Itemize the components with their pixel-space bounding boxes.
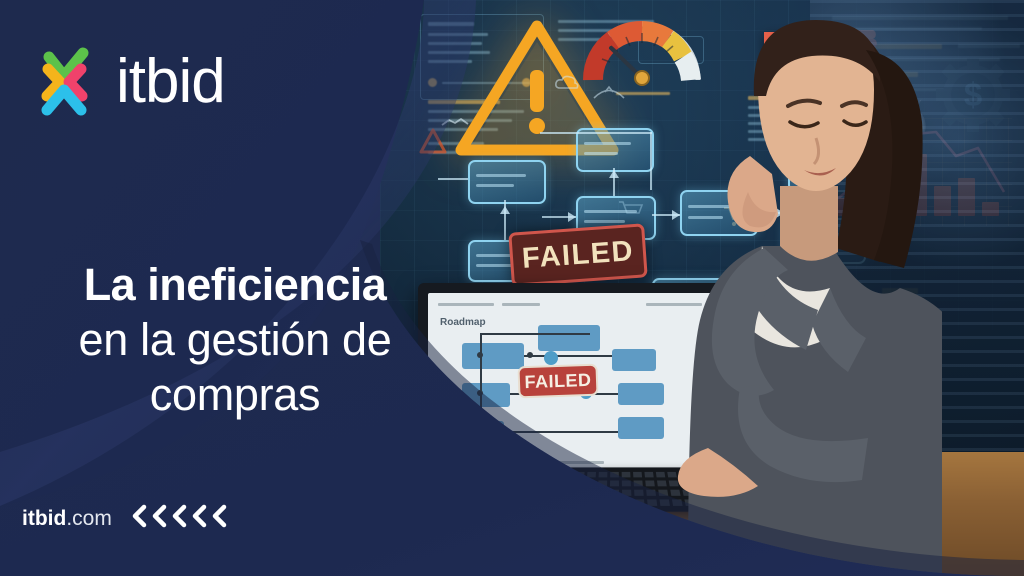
chevron-left-icon <box>170 503 188 534</box>
footer-site-tld: .com <box>66 507 112 530</box>
page-title: La ineficiencia en la gestión de compras <box>0 258 470 423</box>
headline-line-1: La ineficiencia <box>0 258 470 313</box>
brand-logo-wordmark: itbid <box>116 51 225 113</box>
headline-line-2: en la gestión de <box>0 313 470 368</box>
brand-logo[interactable]: itbid <box>28 42 308 122</box>
chevron-left-icon <box>190 503 208 534</box>
footer-website[interactable]: itbid.com <box>22 508 112 529</box>
chevron-left-icon <box>130 503 148 534</box>
chevron-left-icon <box>210 503 228 534</box>
chevron-left-icon <box>150 503 168 534</box>
footer-chevron-group <box>130 503 228 534</box>
headline-line-3: compras <box>0 368 470 423</box>
footer: itbid.com <box>22 503 228 534</box>
presentation-slide: $ $ $ <box>0 0 1024 576</box>
footer-site-name: itbid <box>22 507 66 530</box>
itbid-x-mark-icon <box>28 46 100 118</box>
